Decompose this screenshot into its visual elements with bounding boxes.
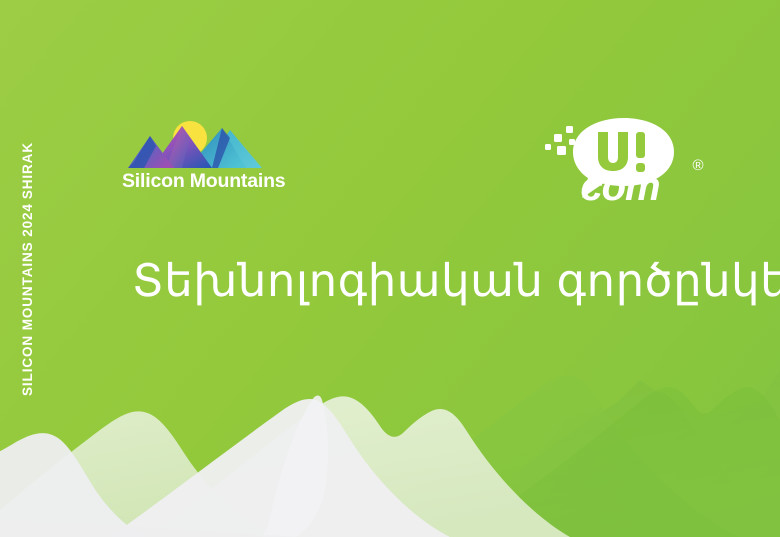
green-mountain-back	[520, 370, 780, 537]
green-mountain-front	[460, 387, 780, 537]
silicon-mountains-logo: Silicon Mountains	[122, 116, 302, 198]
green-mountain-mid	[350, 375, 740, 537]
white-peak-left	[0, 433, 146, 537]
ucom-wordmark-com: com	[580, 165, 659, 207]
white-base-wash	[0, 520, 300, 537]
white-spike-center	[262, 396, 328, 537]
slide-headline: Տեխնոլոգիական գործընկեր	[132, 256, 732, 306]
pale-green-peak-center	[150, 396, 570, 537]
white-peak-center	[110, 399, 450, 537]
ucom-pixel-squares-icon	[545, 126, 575, 155]
presentation-slide: SILICON MOUNTAINS 2024 SHIRAK	[0, 0, 780, 537]
ucom-logo: com ®	[538, 112, 718, 207]
silicon-mountains-wordmark: Silicon Mountains	[122, 172, 302, 192]
ucom-registered-mark: ®	[692, 157, 703, 174]
pale-green-peak-left	[0, 411, 280, 537]
sidebar-caption-bold: SHIRAK	[20, 142, 35, 199]
sidebar-vertical-caption: SILICON MOUNTAINS 2024 SHIRAK	[15, 0, 39, 396]
sidebar-caption-regular: SILICON MOUNTAINS 2024	[20, 203, 35, 396]
silicon-mountains-mark-icon	[126, 116, 268, 168]
